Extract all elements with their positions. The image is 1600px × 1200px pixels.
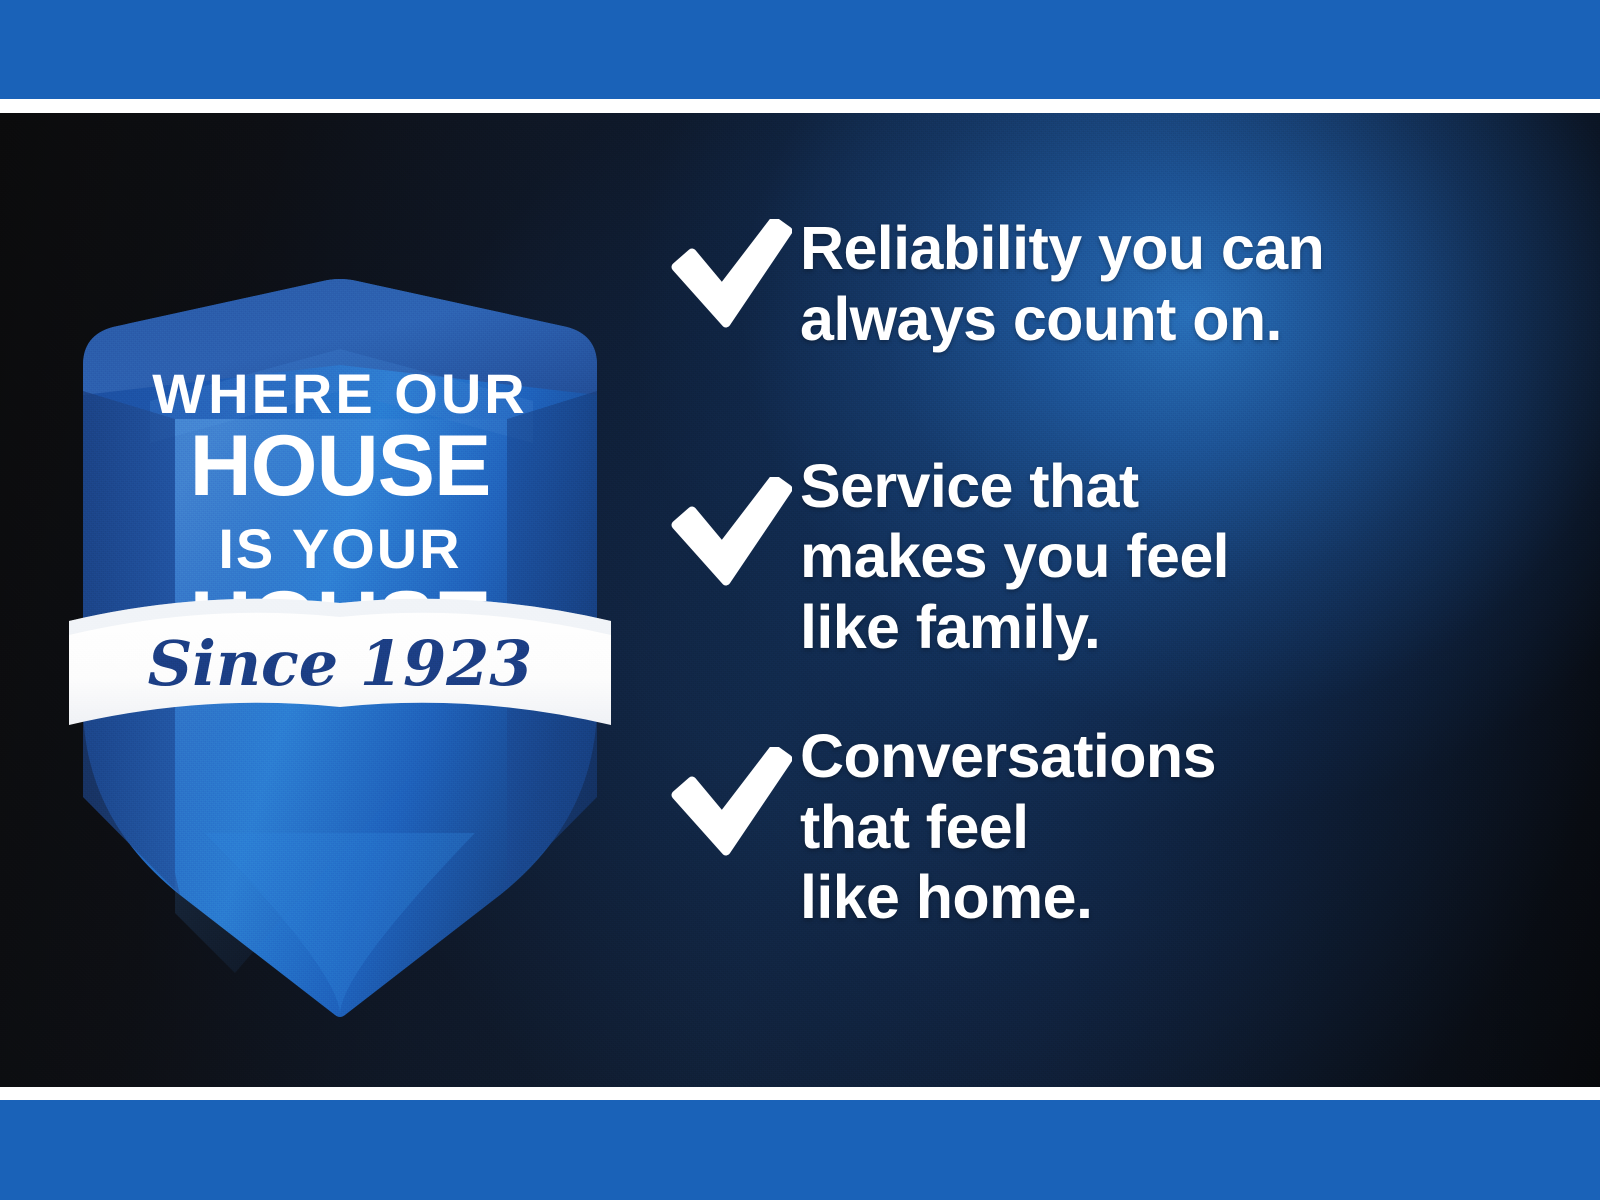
- shield-line-3: IS YOUR: [218, 517, 461, 580]
- checkmark-icon-svg: [670, 219, 792, 329]
- checkmark-icon-svg: [670, 747, 792, 857]
- poster-stage: WHERE OUR HOUSE IS YOUR HOUSE Since 1923: [0, 113, 1600, 1087]
- benefits-list: Reliability you can always count on. Ser…: [670, 213, 1500, 933]
- top-brand-bar: [0, 0, 1600, 99]
- benefit-item: Reliability you can always count on.: [670, 213, 1500, 355]
- benefit-text: Conversations that feel like home.: [800, 721, 1216, 933]
- checkmark-icon: [670, 213, 800, 329]
- checkmark-icon-svg: [670, 477, 792, 587]
- shield-line-2: HOUSE: [190, 418, 491, 514]
- benefit-text: Reliability you can always count on.: [800, 213, 1324, 355]
- checkmark-icon: [670, 451, 800, 587]
- shield-badge-svg: WHERE OUR HOUSE IS YOUR HOUSE Since 1923: [55, 273, 625, 1043]
- benefit-item: Conversations that feel like home.: [670, 721, 1500, 933]
- shield-line-1: WHERE OUR: [152, 362, 527, 425]
- heritage-badge: WHERE OUR HOUSE IS YOUR HOUSE Since 1923: [55, 273, 625, 1043]
- checkmark-icon: [670, 721, 800, 857]
- benefit-item: Service that makes you feel like family.: [670, 451, 1500, 663]
- bottom-brand-bar: [0, 1100, 1600, 1200]
- benefit-text: Service that makes you feel like family.: [800, 451, 1229, 663]
- ribbon-since-text: Since 1923: [148, 627, 533, 700]
- promotional-poster: WHERE OUR HOUSE IS YOUR HOUSE Since 1923: [0, 0, 1600, 1200]
